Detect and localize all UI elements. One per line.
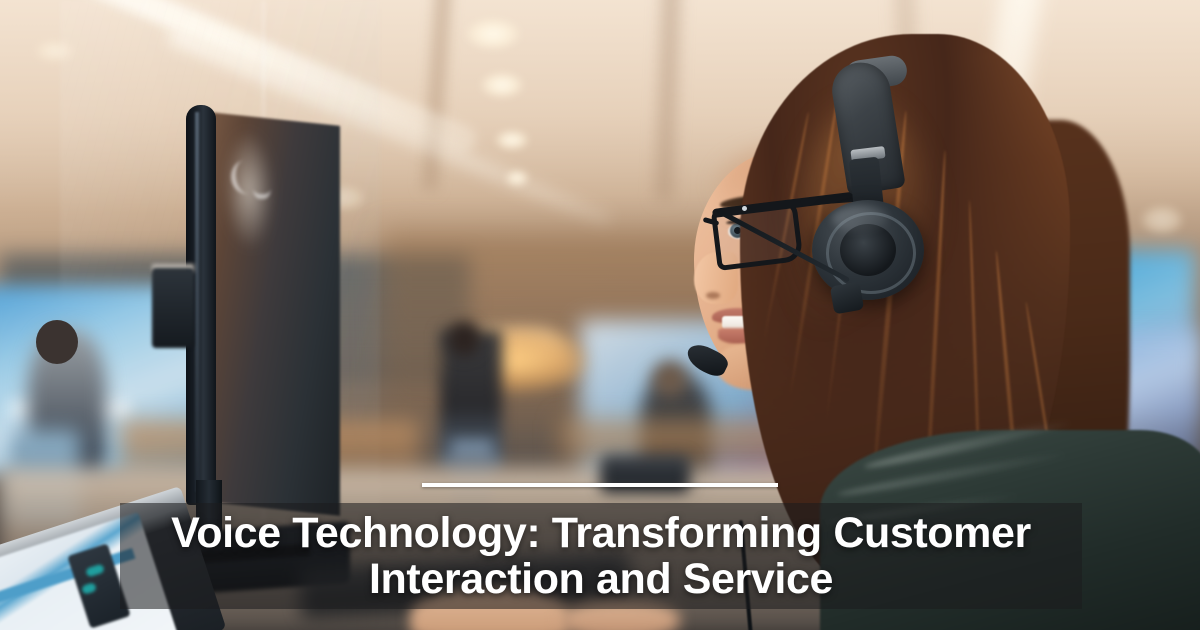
page-title-line-1: Voice Technology: Transforming Customer [171, 510, 1031, 556]
title-divider-rule [422, 483, 778, 487]
page-title-line-2: Interaction and Service [369, 556, 833, 602]
headset-earcup-highlight [832, 206, 888, 232]
nostril [706, 292, 720, 299]
eyeglasses-hinge [742, 206, 747, 211]
hero-banner: Voice Technology: Transforming Customer … [0, 0, 1200, 630]
headset-mic-joint [830, 282, 864, 315]
headset-earcup-inner [840, 224, 896, 276]
page-title: Voice Technology: Transforming Customer … [120, 498, 1082, 614]
